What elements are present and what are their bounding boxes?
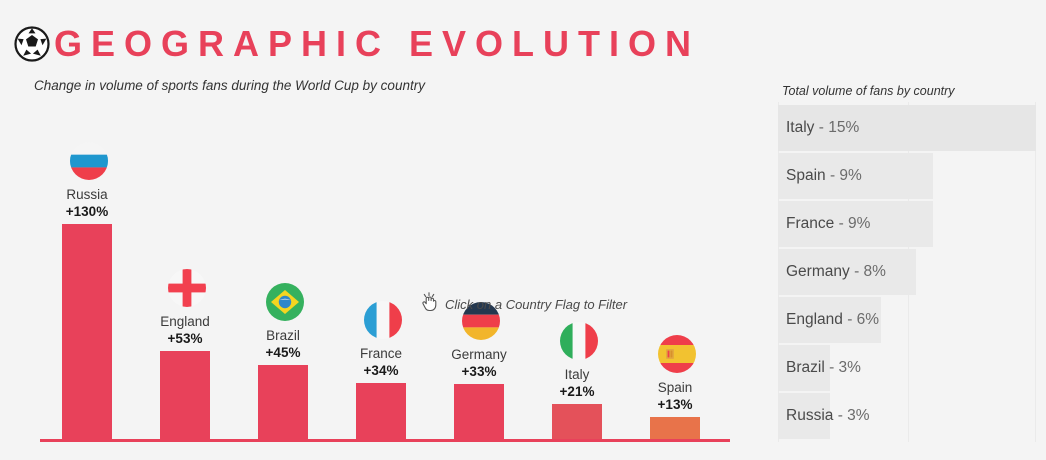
panel-country-pct: - 8% <box>854 263 886 280</box>
bar-germany[interactable] <box>454 384 504 439</box>
panel-row-brazil[interactable]: Brazil - 3% <box>778 344 1046 392</box>
panel-row-france[interactable]: France - 9% <box>778 200 1046 248</box>
bar-spain[interactable] <box>650 417 700 439</box>
bar-country-label: Germany <box>426 346 532 363</box>
bar-label-group: Russia+130% <box>34 186 140 221</box>
panel-country-name: Spain <box>786 167 826 184</box>
spain-flag-icon[interactable] <box>658 335 696 373</box>
bar-value-label: +33% <box>426 363 532 381</box>
panel-row-spain[interactable]: Spain - 9% <box>778 152 1046 200</box>
panel-row-label: Germany - 8% <box>786 248 886 294</box>
panel-row-germany[interactable]: Germany - 8% <box>778 248 1046 296</box>
panel-row-label: Italy - 15% <box>786 104 859 150</box>
soccer-ball-icon <box>14 26 50 62</box>
panel-country-pct: - 3% <box>829 359 861 376</box>
panel-country-name: England <box>786 311 843 328</box>
panel-row-england[interactable]: England - 6% <box>778 296 1046 344</box>
click-hand-icon <box>420 292 438 317</box>
panel-title: Total volume of fans by country <box>782 84 955 98</box>
bar-russia[interactable] <box>62 224 112 439</box>
panel-country-name: Russia <box>786 407 833 424</box>
panel-country-name: France <box>786 215 834 232</box>
brazil-flag-icon[interactable] <box>266 283 304 321</box>
panel-country-name: Italy <box>786 119 814 136</box>
bar-country-label: England <box>132 313 238 330</box>
bar-label-group: Germany+33% <box>426 346 532 381</box>
panel-country-pct: - 6% <box>847 311 879 328</box>
panel-country-pct: - 9% <box>830 167 862 184</box>
bar-label-group: Spain+13% <box>622 379 728 414</box>
panel-row-label: Russia - 3% <box>786 392 870 438</box>
bar-country-label: France <box>328 345 434 362</box>
bar-value-label: +45% <box>230 344 336 362</box>
bar-value-label: +34% <box>328 362 434 380</box>
bar-brazil[interactable] <box>258 365 308 439</box>
page-subtitle: Change in volume of sports fans during t… <box>34 78 425 93</box>
panel-row-label: Brazil - 3% <box>786 344 861 390</box>
bar-value-label: +13% <box>622 396 728 414</box>
bar-value-label: +53% <box>132 330 238 348</box>
bar-value-label: +21% <box>524 383 630 401</box>
bar-country-label: Spain <box>622 379 728 396</box>
bar-label-group: France+34% <box>328 345 434 380</box>
france-flag-icon[interactable] <box>364 301 402 339</box>
panel-row-russia[interactable]: Russia - 3% <box>778 392 1046 440</box>
bar-label-group: Brazil+45% <box>230 327 336 362</box>
panel-country-pct: - 3% <box>838 407 870 424</box>
click-hint-text: Click on a Country Flag to Filter <box>445 297 627 312</box>
bar-label-group: England+53% <box>132 313 238 348</box>
panel-row-label: France - 9% <box>786 200 870 246</box>
panel-row-italy[interactable]: Italy - 15% <box>778 104 1046 152</box>
page-header: GEOGRAPHIC EVOLUTION Change in volume of… <box>0 0 760 110</box>
chart-baseline <box>40 439 730 442</box>
panel-bar-list: Italy - 15%Spain - 9%France - 9%Germany … <box>778 104 1046 440</box>
bar-country-label: Russia <box>34 186 140 203</box>
panel-country-name: Brazil <box>786 359 825 376</box>
bar-country-label: Italy <box>524 366 630 383</box>
side-panel: Total volume of fans by country Italy - … <box>760 0 1046 460</box>
bar-label-group: Italy+21% <box>524 366 630 401</box>
click-hint: Click on a Country Flag to Filter <box>420 292 627 317</box>
bar-italy[interactable] <box>552 404 602 439</box>
panel-country-name: Germany <box>786 263 850 280</box>
bar-country-label: Brazil <box>230 327 336 344</box>
panel-row-label: England - 6% <box>786 296 879 342</box>
bar-value-label: +130% <box>34 203 140 221</box>
panel-country-pct: - 15% <box>819 119 860 136</box>
panel-row-label: Spain - 9% <box>786 152 862 198</box>
russia-flag-icon[interactable] <box>70 142 108 180</box>
page-title: GEOGRAPHIC EVOLUTION <box>54 20 700 68</box>
bar-france[interactable] <box>356 383 406 439</box>
bar-chart: Russia+130% England+53% Brazil+45% Franc… <box>0 110 760 460</box>
bar-england[interactable] <box>160 351 210 439</box>
italy-flag-icon[interactable] <box>560 322 598 360</box>
england-flag-icon[interactable] <box>168 269 206 307</box>
panel-country-pct: - 9% <box>839 215 871 232</box>
